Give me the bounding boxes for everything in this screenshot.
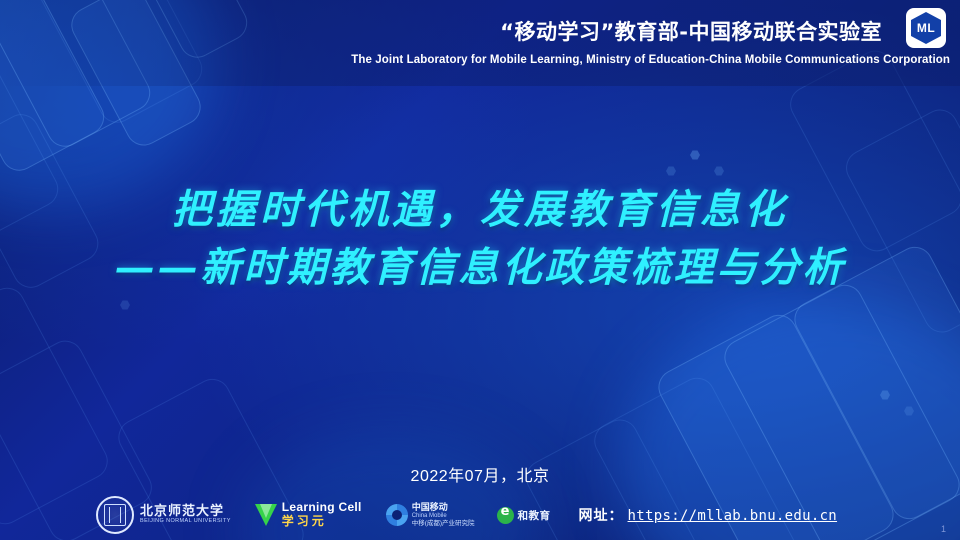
hexagon-icon: ML: [911, 12, 941, 44]
learning-cell-name-cn: 学习元: [282, 515, 362, 529]
logo-text: ML: [917, 21, 935, 35]
page-number: 1: [941, 524, 946, 534]
website-label: 网址：: [579, 505, 624, 525]
date-line: 2022年07月，北京: [0, 462, 960, 486]
e-circle-icon: [497, 507, 514, 524]
joint-lab-logo: ML: [906, 8, 946, 48]
bnu-name-cn: 北京师范大学: [140, 505, 231, 519]
bnu-logo: 北京师范大学 BEIJING NORMAL UNIVERSITY: [96, 496, 231, 534]
hejiaoyu-logo: 和教育: [497, 507, 551, 524]
china-mobile-institute: 中移(成都)产业研究院: [412, 520, 475, 527]
bnu-seal-icon: [96, 496, 134, 534]
title-block: 把握时代机遇，发展教育信息化 ——新时期教育信息化政策梳理与分析: [0, 182, 960, 298]
title-line-1: 把握时代机遇，发展教育信息化: [0, 182, 960, 238]
website-link[interactable]: https://mllab.bnu.edu.cn: [628, 508, 838, 524]
learning-cell-logo: Learning Cell 学习元: [255, 501, 362, 529]
china-mobile-icon: [386, 504, 408, 526]
website-block: 网址： https://mllab.bnu.edu.cn: [579, 505, 838, 525]
title-line-2: ——新时期教育信息化政策梳理与分析: [0, 238, 960, 298]
china-mobile-name-en: China Mobile: [412, 513, 475, 520]
learning-cell-name-en: Learning Cell: [282, 501, 362, 515]
header-title-cn: “移动学习”教育部-中国移动联合实验室: [500, 16, 882, 46]
header-title-en: The Joint Laboratory for Mobile Learning…: [351, 54, 950, 66]
slide-header: “移动学习”教育部-中国移动联合实验室 The Joint Laboratory…: [0, 0, 960, 86]
slide-root: “移动学习”教育部-中国移动联合实验室 The Joint Laboratory…: [0, 0, 960, 540]
china-mobile-name-cn: 中国移动: [412, 503, 475, 513]
bnu-name-en: BEIJING NORMAL UNIVERSITY: [140, 519, 231, 525]
china-mobile-logo: 中国移动 China Mobile 中移(成都)产业研究院: [386, 503, 475, 527]
checkmark-icon: [255, 504, 277, 526]
hejiaoyu-name: 和教育: [518, 508, 551, 523]
slide-footer: 北京师范大学 BEIJING NORMAL UNIVERSITY Learnin…: [0, 484, 960, 540]
